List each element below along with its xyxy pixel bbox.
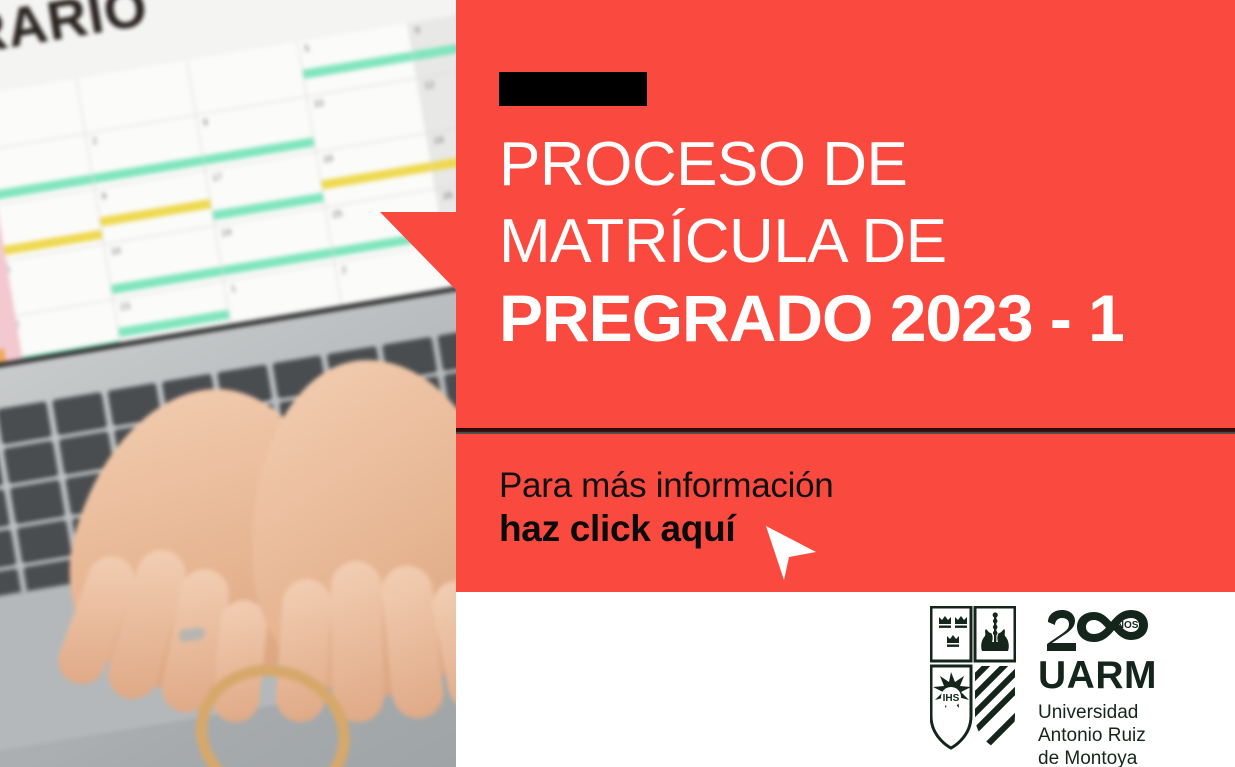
twenty-years-infinity-icon: AÑOS <box>1038 606 1158 652</box>
headline-line-2: MATRÍCULA DE <box>499 203 1219 280</box>
uarm-logo: IHS <box>930 606 1210 756</box>
three-crowns-icon <box>931 607 971 661</box>
uarm-shield-crest-icon: IHS <box>930 606 1016 752</box>
calendar-day-number: 16 <box>110 245 122 257</box>
calendar-event-bar <box>303 51 414 78</box>
calendar-day-number: 24 <box>221 227 233 239</box>
red-pointer-notch <box>380 212 456 290</box>
calendar-day-number: 19 <box>433 134 445 146</box>
headline-line-3: PREGRADO 2023 - 1 <box>499 280 1219 357</box>
logo-text-block: AÑOS UARM Universidad Antonio Ruiz de Mo… <box>1038 606 1158 767</box>
calendar-event-bar <box>413 33 456 60</box>
two-lions-with-chain-icon <box>975 607 1015 661</box>
uarm-fullname-line-2: Antonio Ruiz <box>1038 724 1158 747</box>
calendar-day-number: 1 <box>230 283 237 294</box>
uarm-fullname-line-1: Universidad <box>1038 701 1158 724</box>
calendar-day-number: 6 <box>414 24 421 35</box>
cta-line-2[interactable]: haz click aquí <box>499 507 969 551</box>
black-rule <box>499 72 647 106</box>
poster-root: HORARIO › 5 6 27 1 2 9 10 12 <box>0 0 1235 767</box>
calendar-event-bar <box>321 162 432 189</box>
calendar-event-bar <box>432 144 456 171</box>
laptop-schedule-photo: HORARIO › 5 6 27 1 2 9 10 12 <box>0 0 456 767</box>
calendar-cell: 6 <box>409 5 456 79</box>
calendar-day-number: 9 <box>202 117 209 128</box>
calendar-day-number: 2 <box>341 264 348 275</box>
calendar-event-bar <box>100 199 211 226</box>
cta-line-1: Para más información <box>499 465 969 507</box>
headline-line-1: PROCESO DE <box>499 126 1219 203</box>
photo-inner: HORARIO › 5 6 27 1 2 9 10 12 <box>0 0 456 767</box>
calendar-day-number: 5 <box>303 43 310 54</box>
ihs-sunburst-icon: IHS <box>931 666 971 748</box>
calendar-day-number: 23 <box>119 300 131 312</box>
uarm-fullname-line-3: de Montoya <box>1038 747 1158 767</box>
calendar-day-number: 18 <box>322 153 334 165</box>
calendar-day-number: 10 <box>313 97 325 109</box>
svg-text:IHS: IHS <box>943 693 960 704</box>
anniversary-label: AÑOS <box>1110 618 1139 631</box>
calendar-day-number: 12 <box>423 79 435 91</box>
headline-block: PROCESO DE MATRÍCULA DE PREGRADO 2023 - … <box>499 126 1219 357</box>
calendar-day-number: 26 <box>442 190 454 202</box>
uarm-wordmark: UARM <box>1038 654 1158 698</box>
uarm-fullname: Universidad Antonio Ruiz de Montoya <box>1038 701 1158 767</box>
calendar-day-number: 9 <box>101 191 108 202</box>
pointer-cursor-icon[interactable] <box>762 522 820 584</box>
calendar-day-number: 2 <box>91 135 98 146</box>
calendar-day-number: 17 <box>211 171 223 183</box>
calendar-day-number: 25 <box>331 208 343 220</box>
cta-text-block[interactable]: Para más información haz click aquí <box>499 465 969 551</box>
